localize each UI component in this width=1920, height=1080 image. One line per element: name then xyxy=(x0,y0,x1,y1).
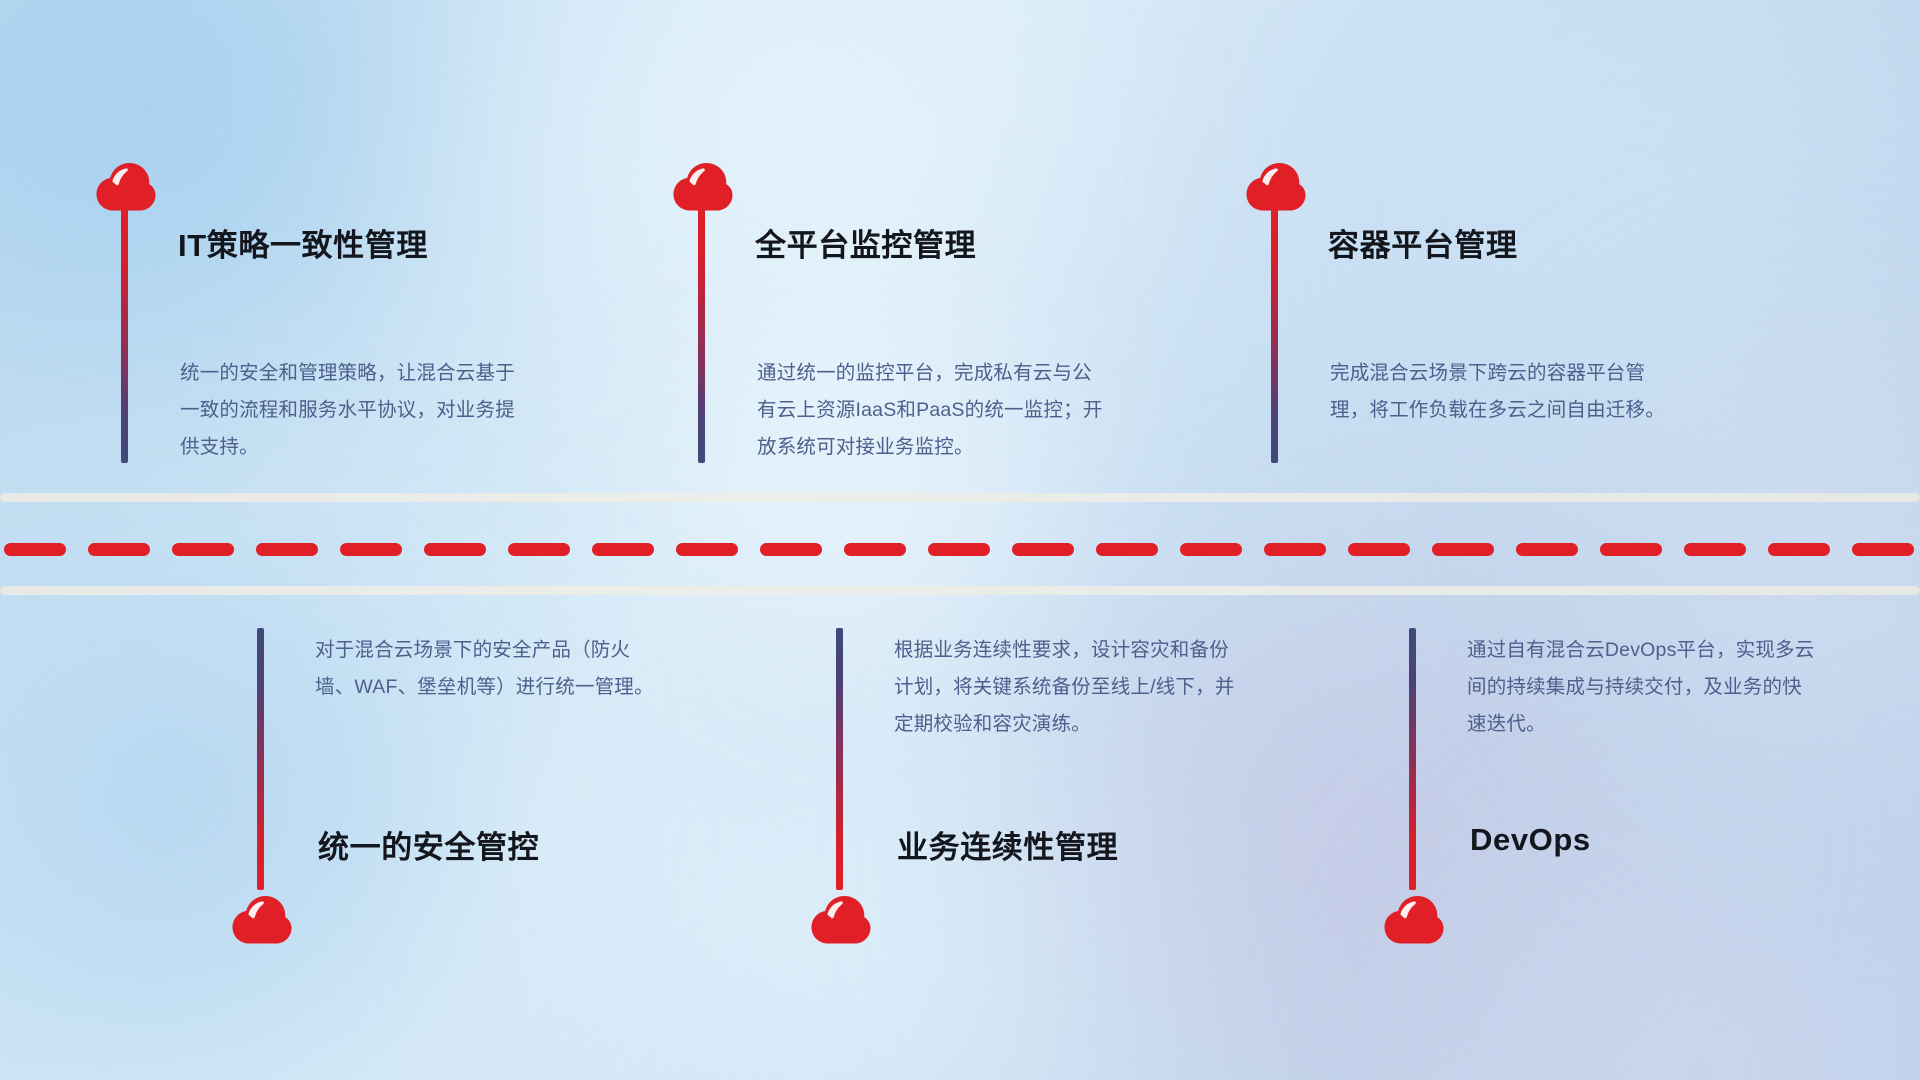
capability-title: IT策略一致性管理 xyxy=(178,220,428,265)
connector-stem xyxy=(1409,628,1416,890)
divider-dash xyxy=(676,543,738,556)
divider-dash xyxy=(592,543,654,556)
capability-title: 统一的安全管控 xyxy=(318,822,539,867)
cloud-icon xyxy=(231,893,293,945)
capability-description: 对于混合云场景下的安全产品（防火墙、WAF、堡垒机等）进行统一管理。 xyxy=(315,632,667,706)
divider-dash xyxy=(1516,543,1578,556)
divider-dash xyxy=(1600,543,1662,556)
cloud-icon xyxy=(810,893,872,945)
divider-dash xyxy=(88,543,150,556)
divider-dash xyxy=(1768,543,1830,556)
divider-dash xyxy=(760,543,822,556)
divider-dashed-line xyxy=(0,543,1920,556)
divider-dash xyxy=(1264,543,1326,556)
divider-dash xyxy=(1852,543,1914,556)
divider-dash xyxy=(1684,543,1746,556)
divider-dash xyxy=(256,543,318,556)
divider-dash xyxy=(928,543,990,556)
capability-description: 根据业务连续性要求，设计容灾和备份计划，将关键系统备份至线上/线下，并定期校验和… xyxy=(894,632,1246,743)
capability-description: 完成混合云场景下跨云的容器平台管理，将工作负载在多云之间自由迁移。 xyxy=(1330,355,1682,429)
capability-title: 全平台监控管理 xyxy=(755,220,976,265)
capability-description: 统一的安全和管理策略，让混合云基于一致的流程和服务水平协议，对业务提供支持。 xyxy=(180,355,532,466)
capability-title: 容器平台管理 xyxy=(1328,220,1518,265)
connector-stem xyxy=(121,205,128,463)
connector-stem xyxy=(836,628,843,890)
capability-description: 通过统一的监控平台，完成私有云与公有云上资源IaaS和PaaS的统一监控；开放系… xyxy=(757,355,1109,466)
divider-rail-top xyxy=(0,493,1920,502)
divider-dash xyxy=(172,543,234,556)
connector-stem xyxy=(1271,205,1278,463)
divider-dash xyxy=(1432,543,1494,556)
divider-dash xyxy=(508,543,570,556)
divider-dash xyxy=(1348,543,1410,556)
cloud-icon xyxy=(1383,893,1445,945)
divider-dash xyxy=(844,543,906,556)
capability-title: DevOps xyxy=(1470,822,1591,858)
infographic-stage: IT策略一致性管理 统一的安全和管理策略，让混合云基于一致的流程和服务水平协议，… xyxy=(0,0,1920,1080)
divider-rail-bottom xyxy=(0,586,1920,595)
divider-dash xyxy=(340,543,402,556)
capability-title: 业务连续性管理 xyxy=(897,822,1118,867)
divider-dash xyxy=(1180,543,1242,556)
connector-stem xyxy=(257,628,264,890)
divider-dash xyxy=(4,543,66,556)
divider-dash xyxy=(1012,543,1074,556)
divider-dash xyxy=(1096,543,1158,556)
connector-stem xyxy=(698,205,705,463)
divider-dash xyxy=(424,543,486,556)
capability-description: 通过自有混合云DevOps平台，实现多云间的持续集成与持续交付，及业务的快速迭代… xyxy=(1467,632,1819,743)
